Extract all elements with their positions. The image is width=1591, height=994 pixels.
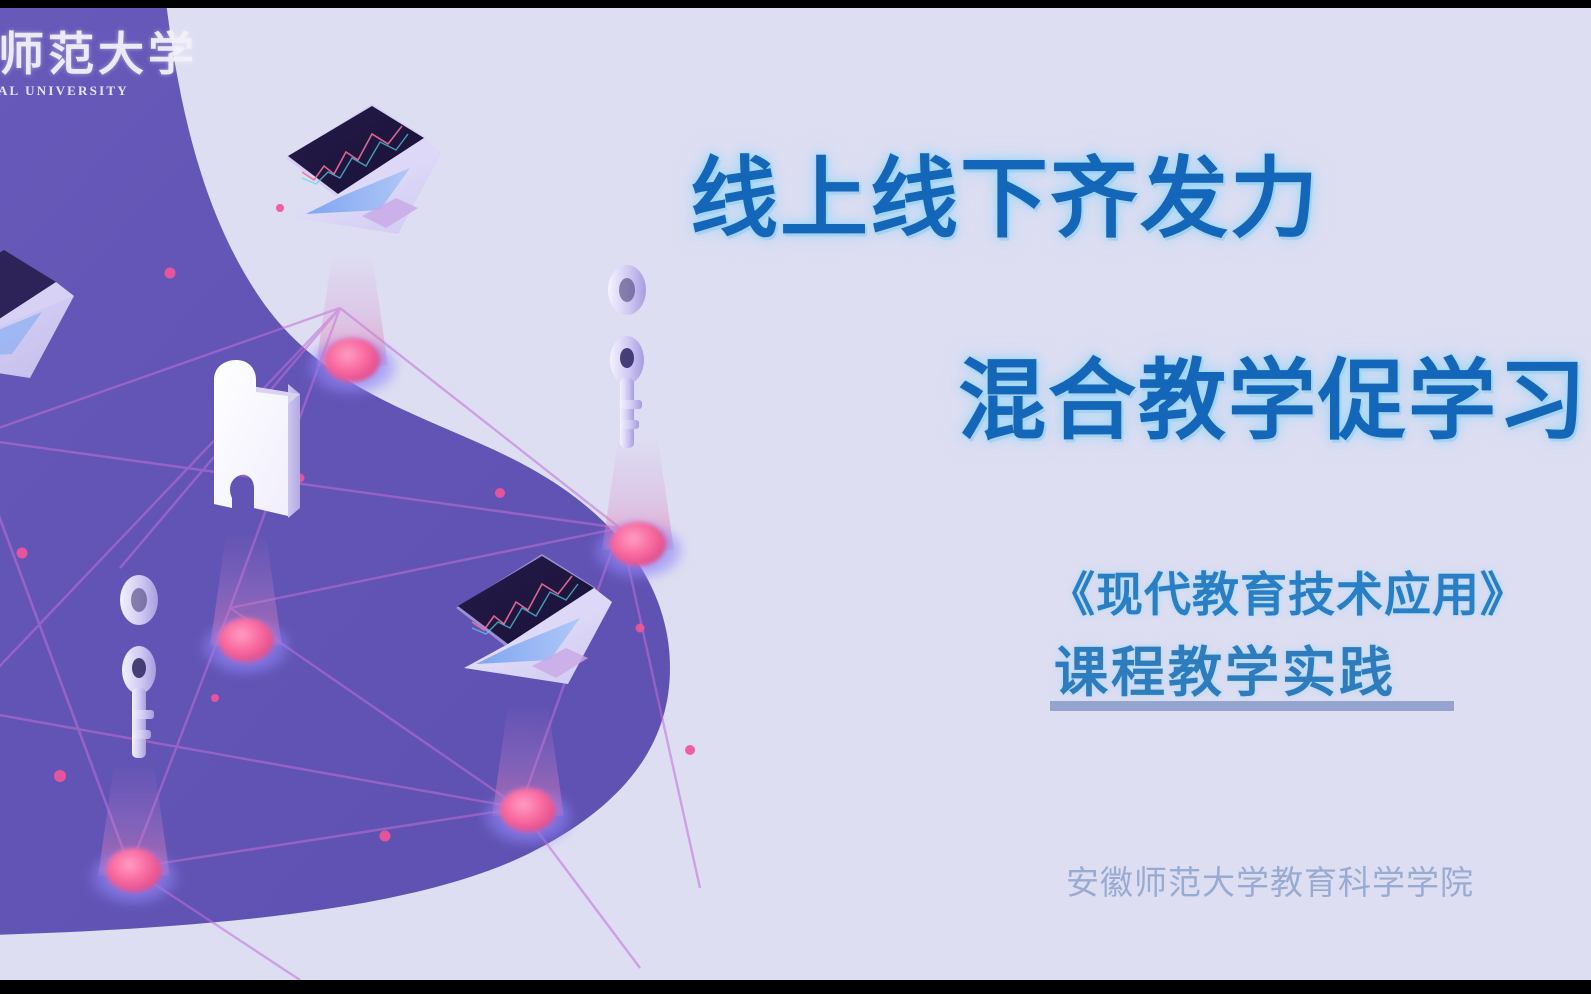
slide-canvas: 徽师范大学 NORMAL UNIVERSITY 线上线下齐发力 混合教学促学习 … xyxy=(0,8,1591,980)
university-logo: 徽师范大学 NORMAL UNIVERSITY xyxy=(0,30,188,99)
subtitle-underline xyxy=(1050,701,1454,711)
subtitle-practice: 课程教学实践 xyxy=(1054,628,1396,707)
laptop-illustration-left-edge xyxy=(0,230,78,410)
slide-root: 徽师范大学 NORMAL UNIVERSITY 线上线下齐发力 混合教学促学习 … xyxy=(0,0,1591,994)
subtitle-course-name: 《现代教育技术应用》 xyxy=(1048,556,1528,625)
university-logo-name-cn: 徽师范大学 xyxy=(0,30,188,78)
main-title-line-2: 混合教学促学习 xyxy=(958,330,1588,457)
footer-organization: 安徽师范大学教育科学学院 xyxy=(1066,856,1474,904)
university-logo-name-en: NORMAL UNIVERSITY xyxy=(0,83,188,99)
text-content-area: 线上线下齐发力 混合教学促学习 《现代教育技术应用》 课程教学实践 安徽师范大学… xyxy=(672,8,1591,980)
letterbox-bar-bottom xyxy=(0,980,1591,994)
laptop-illustration-top xyxy=(276,86,446,266)
letterbox-bar-top xyxy=(0,0,1591,8)
puzzle-piece-illustration xyxy=(196,356,316,546)
key-icon-upper xyxy=(600,260,660,460)
laptop-illustration-middle xyxy=(446,536,616,716)
main-title-line-1: 线上线下齐发力 xyxy=(690,128,1320,255)
key-icon-lower xyxy=(112,570,172,770)
